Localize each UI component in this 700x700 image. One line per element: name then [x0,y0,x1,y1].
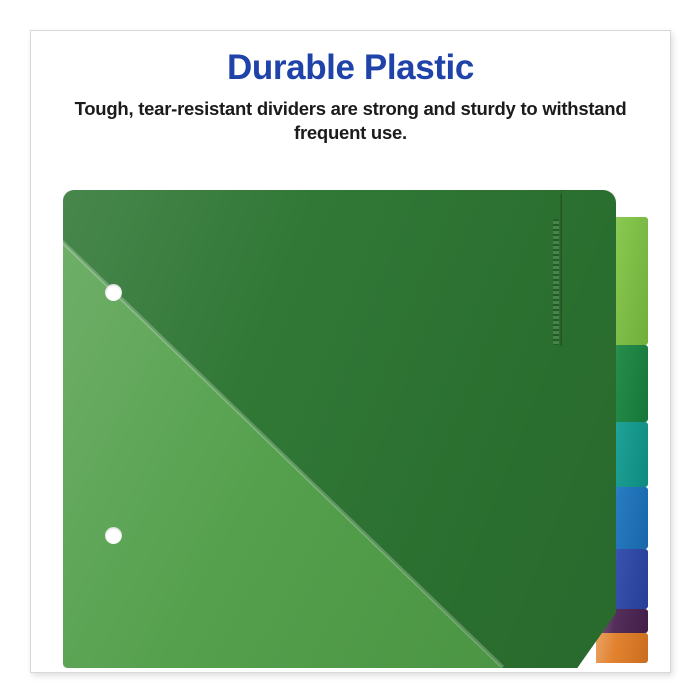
divider-spine-edge [560,194,562,346]
product-image-card: Durable Plastic Tough, tear-resistant di… [30,30,671,673]
punch-hole-bottom [105,527,122,544]
page-title: Durable Plastic [31,49,670,88]
divider-tab-notch [561,190,616,346]
header-text-block: Durable Plastic Tough, tear-resistant di… [31,49,670,145]
page-subtitle: Tough, tear-resistant dividers are stron… [31,97,670,146]
divider-perforation-strip [553,219,559,345]
divider-body [63,190,616,668]
punch-hole-top [105,284,122,301]
